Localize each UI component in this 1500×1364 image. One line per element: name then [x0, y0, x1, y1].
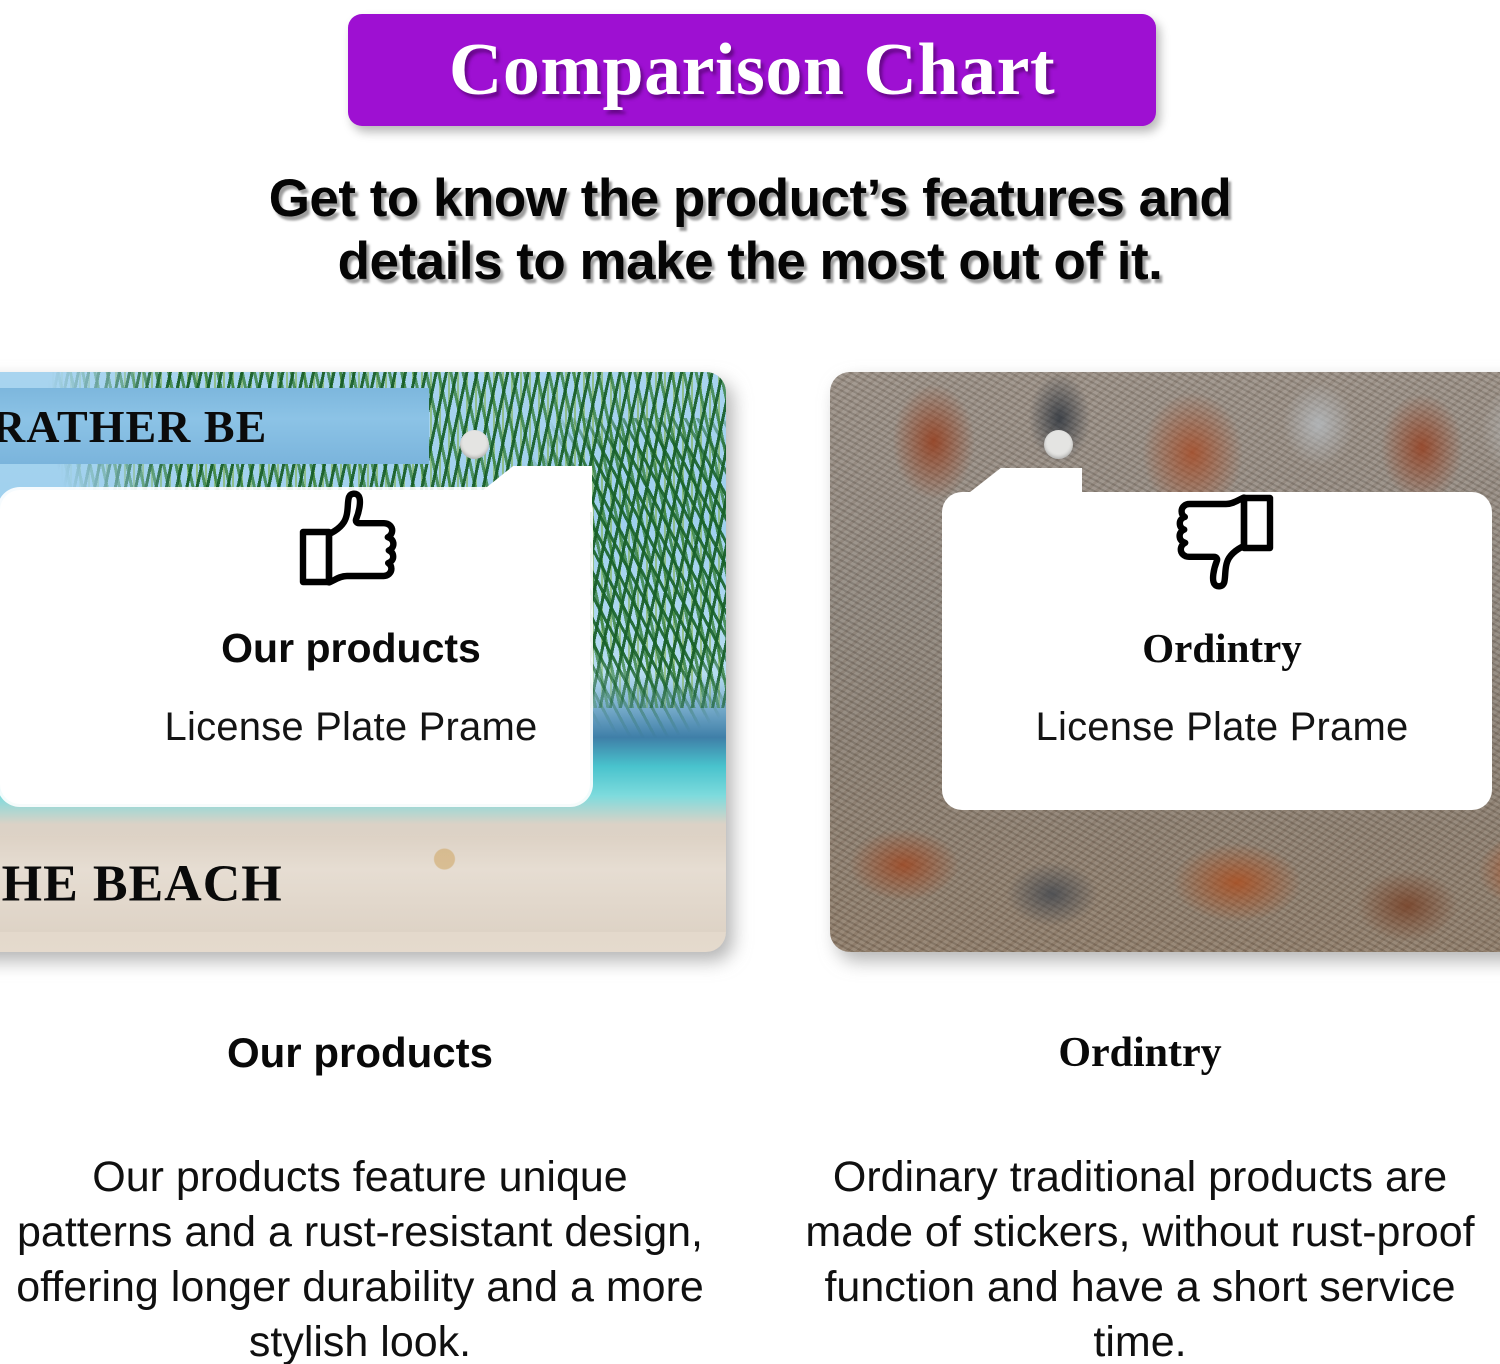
- title-banner: Comparison Chart: [348, 14, 1156, 126]
- subtitle-line-2: details to make the most out of it.: [120, 231, 1380, 294]
- plate-bottom-text: THE BEACH: [0, 855, 283, 914]
- card-content-ours: Our products License Plate Prame: [56, 476, 646, 750]
- page-subtitle: Get to know the product’s features and d…: [120, 168, 1380, 293]
- comparison-chart-page: Comparison Chart Get to know the product…: [0, 0, 1500, 1364]
- thumbs-up-icon: [287, 476, 415, 604]
- bottom-title-ordinary: Ordintry: [790, 1030, 1490, 1076]
- plate-top-text: RATHER BE: [0, 400, 267, 453]
- mounting-hole-icon: [460, 430, 489, 459]
- plate-bottom-bar: THE BEACH: [0, 836, 726, 932]
- bottom-body-ours: Our products feature unique patterns and…: [10, 1150, 710, 1364]
- bottom-body-ordinary: Ordinary traditional products are made o…: [790, 1150, 1490, 1364]
- bottom-column-ordinary: Ordintry Ordinary traditional products a…: [790, 1030, 1490, 1364]
- bottom-column-ours: Our products Our products feature unique…: [10, 1030, 710, 1364]
- thumbs-down-icon: [1158, 476, 1286, 604]
- mounting-hole-icon: [1044, 430, 1073, 459]
- subtitle-line-1: Get to know the product’s features and: [120, 168, 1380, 231]
- card-subheading-ours: License Plate Prame: [56, 705, 646, 750]
- card-content-ordinary: Ordintry License Plate Prame: [942, 476, 1500, 750]
- card-heading-ours: Our products: [56, 626, 646, 671]
- bottom-title-ours: Our products: [10, 1030, 710, 1076]
- page-title: Comparison Chart: [449, 33, 1055, 107]
- card-subheading-ordinary: License Plate Prame: [942, 705, 1500, 750]
- card-heading-ordinary: Ordintry: [942, 626, 1500, 671]
